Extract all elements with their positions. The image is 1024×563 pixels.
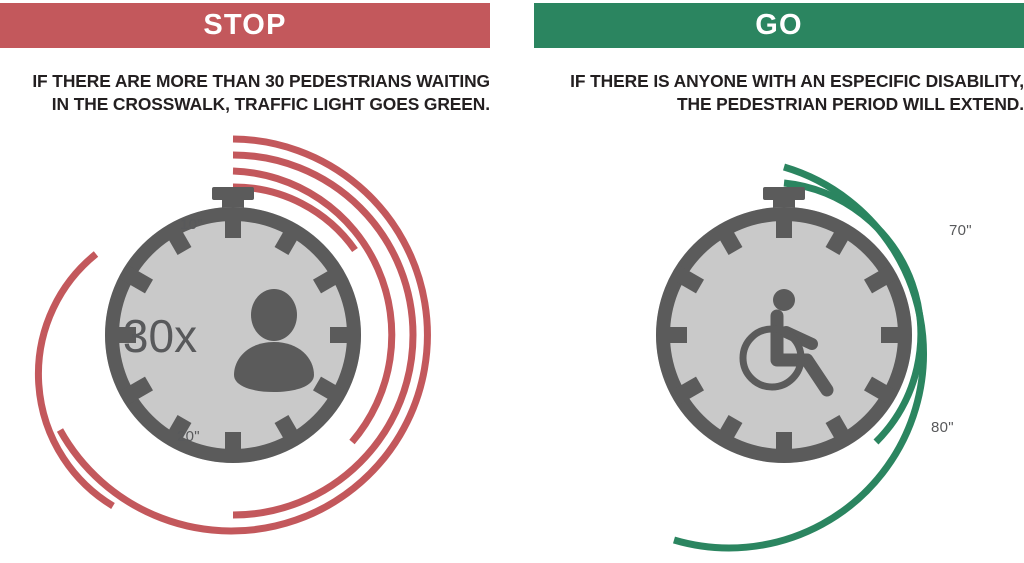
go-header-bar: GO [534, 3, 1024, 48]
panel-go: GO IF THERE IS ANYONE WITH AN ESPECIFIC … [534, 0, 1024, 563]
go-clock-graphic [534, 120, 1024, 563]
go-arc-label-80: 80" [931, 419, 954, 436]
go-arc-label-70: 70" [949, 222, 972, 239]
stop-arc-label-10: 10" [180, 216, 203, 233]
stop-arc-50 [38, 254, 113, 506]
stop-header-title: STOP [203, 11, 286, 40]
stop-clock-graphic: 30x [0, 120, 490, 563]
stop-center-count: 30x [123, 310, 197, 362]
go-clock-stage: 70" 80" [534, 120, 1024, 563]
go-header-title: GO [755, 11, 803, 40]
panel-stop: STOP IF THERE ARE MORE THAN 30 PEDESTRIA… [0, 0, 490, 563]
go-subtitle: IF THERE IS ANYONE WITH AN ESPECIFIC DIS… [534, 70, 1024, 117]
stop-header-bar: STOP [0, 3, 490, 48]
stop-arc-label-20: 20" [177, 428, 200, 445]
stop-clock-stage: 30x 10" 20" 30" 40" 50" [0, 120, 490, 563]
stop-subtitle: IF THERE ARE MORE THAN 30 PEDESTRIANS WA… [0, 70, 490, 117]
